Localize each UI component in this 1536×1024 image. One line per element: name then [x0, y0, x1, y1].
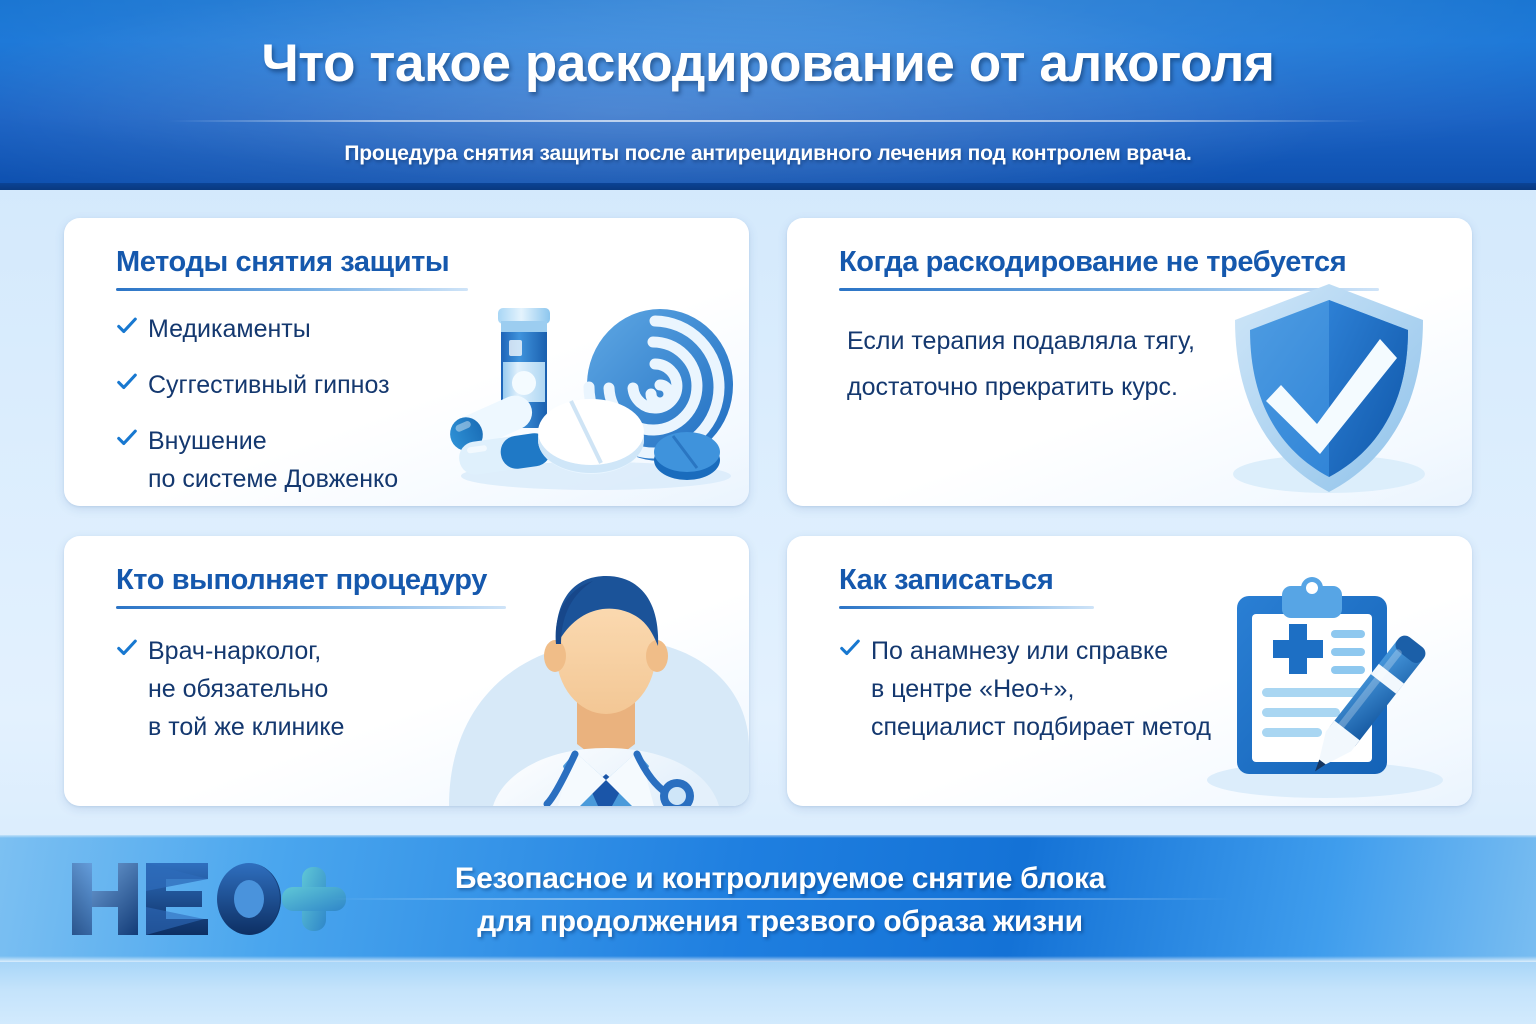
bottom-band	[0, 962, 1536, 1024]
bullet-label: Врач-нарколог, не обязательно в той же к…	[148, 632, 344, 746]
card-title: Как записаться	[839, 564, 1053, 597]
card-who-performs: Кто выполняет процедуру Врач-нарколог, н…	[64, 536, 749, 806]
page-title: Что такое раскодирование от алкоголя	[0, 33, 1536, 94]
card-title: Когда раскодирование не требуется	[839, 246, 1346, 279]
bullet-list: Медикаменты Суггестивный гипноз Внушение…	[116, 310, 398, 506]
card-title-divider	[116, 606, 506, 609]
neo-plus-logo: НЕО+	[62, 853, 352, 945]
bullet-label: По анамнезу или справке в центре «Нео+»,…	[871, 632, 1211, 746]
doctor-icon	[449, 552, 749, 806]
card-title: Кто выполняет процедуру	[116, 564, 487, 597]
card-title-divider	[116, 288, 468, 291]
pills-and-spiral-icon	[441, 280, 741, 495]
list-item: Суггестивный гипноз	[116, 366, 398, 404]
list-item: Внушение по системе Довженко	[116, 422, 398, 498]
clipboard-pen-icon	[1195, 574, 1450, 804]
shield-check-icon	[1224, 278, 1434, 500]
check-icon	[116, 637, 138, 659]
footer-tagline: Безопасное и контролируемое снятие блока…	[330, 857, 1230, 943]
check-icon	[116, 371, 138, 393]
card-paragraph: Если терапия подавляла тягу, достаточно …	[847, 318, 1195, 410]
bullet-label: Суггестивный гипноз	[148, 366, 390, 404]
page-subtitle: Процедура снятия защиты после антирециди…	[0, 142, 1536, 166]
bullet-list: Врач-нарколог, не обязательно в той же к…	[116, 632, 344, 764]
card-title: Методы снятия защиты	[116, 246, 449, 279]
footer-banner: НЕО+ Безопасное и контролируемое снятие …	[0, 835, 1536, 962]
card-title-divider	[839, 606, 1094, 609]
infographic-poster: Что такое раскодирование от алкоголя Про…	[0, 0, 1536, 1024]
card-when-not-needed: Когда раскодирование не требуется Если т…	[787, 218, 1472, 506]
bullet-label: Внушение по системе Довженко	[148, 422, 398, 498]
cards-grid: Методы снятия защиты Медикаменты Суггест…	[64, 218, 1472, 806]
card-how-to-book: Как записаться По анамнезу или справке в…	[787, 536, 1472, 806]
check-icon	[116, 427, 138, 449]
list-item: Врач-нарколог, не обязательно в той же к…	[116, 632, 344, 746]
bullet-label: Медикаменты	[148, 310, 311, 348]
list-item: Медикаменты	[116, 310, 398, 348]
header-banner: Что такое раскодирование от алкоголя Про…	[0, 0, 1536, 190]
title-divider	[168, 120, 1368, 122]
list-item: По анамнезу или справке в центре «Нео+»,…	[839, 632, 1211, 746]
check-icon	[839, 637, 861, 659]
check-icon	[116, 315, 138, 337]
card-methods: Методы снятия защиты Медикаменты Суггест…	[64, 218, 749, 506]
bullet-list: По анамнезу или справке в центре «Нео+»,…	[839, 632, 1211, 764]
